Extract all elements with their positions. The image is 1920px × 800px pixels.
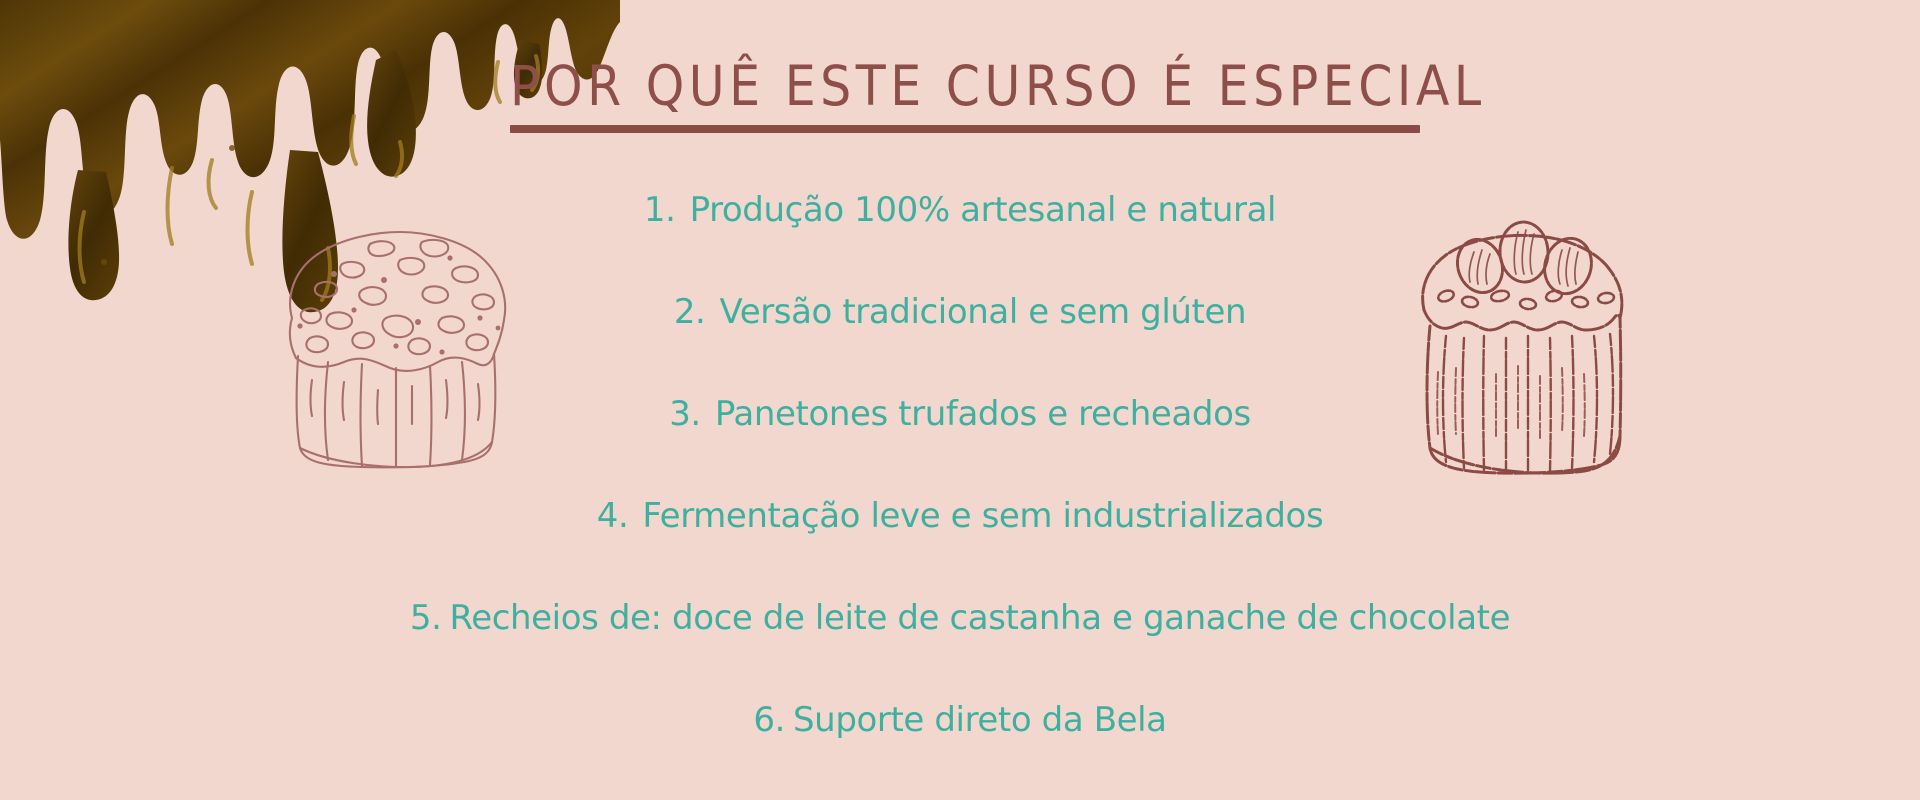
list-item-text: Recheios de: doce de leite de castanha e…: [450, 601, 1511, 635]
list-item-text: Suporte direto da Bela: [793, 703, 1167, 737]
list-item-text: Produção 100% artesanal e natural: [690, 193, 1277, 227]
title-underline: [510, 125, 1420, 133]
list-item-number: 6.: [753, 703, 785, 737]
list-item-text: Panetones trufados e recheados: [715, 397, 1251, 431]
list-item: 5. Recheios de: doce de leite de castanh…: [0, 601, 1920, 703]
benefits-list: 1. Produção 100% artesanal e natural 2. …: [0, 193, 1920, 800]
list-item-text: Fermentação leve e sem industrializados: [642, 499, 1323, 533]
list-item-text: Versão tradicional e sem glúten: [719, 295, 1246, 329]
slide-canvas: POR QUÊ ESTE CURSO É ESPECIAL: [0, 0, 1920, 800]
list-item: 4. Fermentação leve e sem industrializad…: [0, 499, 1920, 601]
list-item: 1. Produção 100% artesanal e natural: [0, 193, 1920, 295]
list-item: 2. Versão tradicional e sem glúten: [0, 295, 1920, 397]
list-item-number: 2.: [674, 295, 706, 329]
list-item-number: 4.: [597, 499, 629, 533]
list-item-number: 1.: [644, 193, 676, 227]
page-title: POR QUÊ ESTE CURSO É ESPECIAL: [510, 58, 1440, 116]
list-item-number: 3.: [669, 397, 701, 431]
list-item-number: 5.: [410, 601, 442, 635]
list-item: 6. Suporte direto da Bela: [0, 703, 1920, 800]
list-item: 3. Panetones trufados e recheados: [0, 397, 1920, 499]
title-block: POR QUÊ ESTE CURSO É ESPECIAL: [510, 58, 1440, 133]
